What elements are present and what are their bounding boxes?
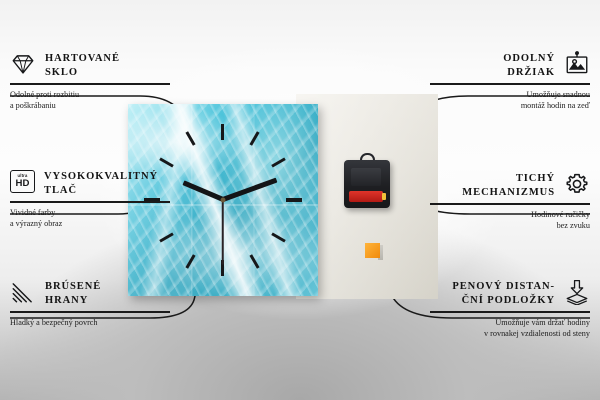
ultra-hd-icon-main-label: HD xyxy=(15,179,29,189)
feature-description: Odolné proti rozbitiu a poškrábaniu xyxy=(10,89,170,112)
feature-tempered-glass: HARTOVANÉ SKLO Odolné proti rozbitiu a p… xyxy=(10,52,170,112)
diamond-icon xyxy=(10,51,36,77)
infographic-canvas: HARTOVANÉ SKLO Odolné proti rozbitiu a p… xyxy=(0,0,600,400)
feature-description: Umožňuje vám držať hodiny v rovnakej vzd… xyxy=(430,317,590,340)
feature-divider xyxy=(430,311,590,312)
feature-divider xyxy=(430,83,590,84)
feature-title: BRÚSENÉ HRANY xyxy=(45,280,101,307)
feature-foam-spacers: PENOVÝ DISTAN- ČNÍ PODLOŽKY Umožňuje vám… xyxy=(430,280,590,340)
feature-silent-mechanism: TICHÝ MECHANIZMUS Hodinové ručičky bez z… xyxy=(430,172,590,232)
clock-mechanism xyxy=(344,160,390,208)
feature-description: Hodinové ručičky bez zvuku xyxy=(430,209,590,232)
feature-title: ODOLNÝ DRŽIAK xyxy=(503,52,555,79)
gear-icon xyxy=(564,171,590,197)
feature-description: Umožňuje snadnou montáž hodin na zeď xyxy=(430,89,590,112)
battery xyxy=(349,191,383,202)
feature-title: PENOVÝ DISTAN- ČNÍ PODLOŽKY xyxy=(452,280,555,307)
feature-description: Hladký a bezpečný povrch xyxy=(10,317,170,329)
feature-divider xyxy=(430,203,590,204)
stacked-layers-down-arrow-icon xyxy=(564,279,590,305)
product-photo xyxy=(128,98,438,303)
feature-polished-edges: BRÚSENÉ HRANY Hladký a bezpečný povrch xyxy=(10,280,170,328)
feature-divider xyxy=(10,83,170,84)
foam-spacer-pad xyxy=(365,243,380,258)
feature-high-quality-print: ultra HD VYSOKOKVALITNÝ TLAČ Vividné far… xyxy=(10,170,170,230)
feature-divider xyxy=(10,201,170,202)
hatch-lines-icon xyxy=(10,279,36,305)
feature-title: TICHÝ MECHANIZMUS xyxy=(462,172,555,199)
feature-title: VYSOKOKVALITNÝ TLAČ xyxy=(44,170,158,197)
feature-divider xyxy=(10,311,170,312)
feature-durable-hanger: ODOLNÝ DRŽIAK Umožňuje snadnou montáž ho… xyxy=(430,52,590,112)
feature-description: Vividné farby a výrazný obraz xyxy=(10,207,170,230)
framed-picture-icon xyxy=(564,51,590,77)
clock-second-hand xyxy=(222,199,224,265)
clock-center-hub xyxy=(221,198,226,203)
ultra-hd-icon: ultra HD xyxy=(10,170,35,193)
feature-title: HARTOVANÉ SKLO xyxy=(45,52,120,79)
